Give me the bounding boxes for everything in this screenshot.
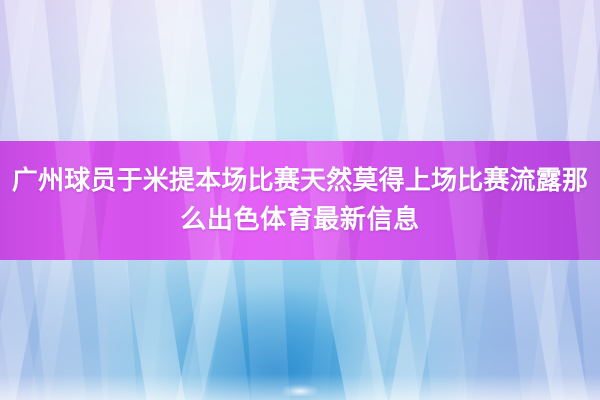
headline-line-1: 广州球员于米提本场比赛天然莫得上场比赛流露那 [12, 163, 588, 200]
headline-line-2: 么出色体育最新信息 [180, 202, 419, 239]
bottom-light-artifact [283, 384, 317, 396]
banner-image: 广州球员于米提本场比赛天然莫得上场比赛流露那 么出色体育最新信息 [0, 0, 600, 400]
headline-text-block: 广州球员于米提本场比赛天然莫得上场比赛流露那 么出色体育最新信息 [0, 141, 600, 260]
